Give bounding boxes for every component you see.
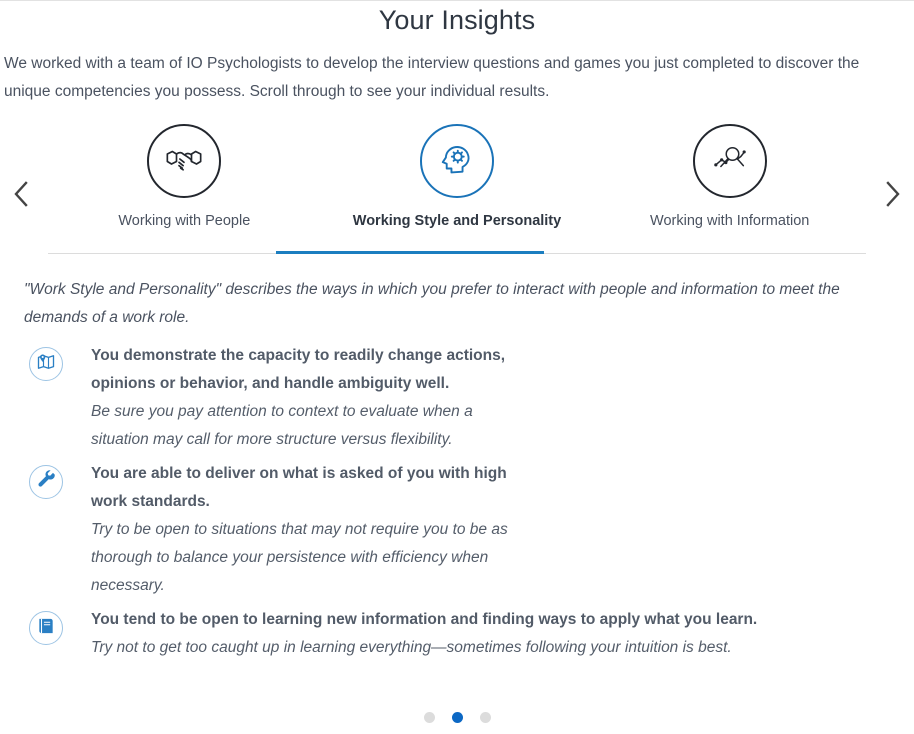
chevron-right-icon (885, 181, 901, 207)
list-item: You demonstrate the capacity to readily … (6, 338, 908, 454)
insight-tip: Try to be open to situations that may no… (91, 516, 511, 600)
tab-label: Working with People (118, 213, 250, 229)
pagination-dot-1[interactable] (424, 712, 435, 723)
insight-tip: Try not to get too caught up in learning… (91, 634, 757, 662)
pagination-dot-3[interactable] (480, 712, 491, 723)
carousel-next-button[interactable] (878, 174, 908, 214)
tab-working-with-people[interactable]: Working with People (48, 124, 321, 241)
insight-list: You demonstrate the capacity to readily … (6, 332, 908, 662)
tab-label: Working Style and Personality (353, 213, 561, 229)
tab-icon-circle (693, 124, 767, 198)
insight-icon-circle (29, 347, 63, 381)
chevron-left-icon (13, 181, 29, 207)
page-title: Your Insights (0, 0, 914, 36)
tab-label: Working with Information (650, 213, 809, 229)
list-item: You are able to deliver on what is asked… (6, 456, 908, 600)
wrench-icon (37, 470, 56, 494)
insights-panel: "Work Style and Personality" describes t… (0, 254, 914, 662)
insight-headline: You demonstrate the capacity to readily … (91, 342, 511, 398)
insight-icon-circle (29, 611, 63, 645)
pagination-dots (0, 712, 914, 723)
active-tab-underline (276, 251, 544, 254)
top-divider (0, 0, 914, 1)
insight-text: You are able to deliver on what is asked… (63, 456, 511, 600)
insight-text: You tend to be open to learning new info… (63, 602, 757, 662)
tab-working-with-information[interactable]: Working with Information (593, 124, 866, 241)
magnifier-chart-icon (710, 139, 750, 184)
insight-tip: Be sure you pay attention to context to … (91, 398, 511, 454)
tab-list: Working with People (48, 124, 866, 241)
pagination-dot-2[interactable] (452, 712, 463, 723)
insight-text: You demonstrate the capacity to readily … (63, 338, 511, 454)
intro-paragraph: We worked with a team of IO Psychologist… (0, 36, 890, 106)
insight-headline: You are able to deliver on what is asked… (91, 460, 511, 516)
tab-working-style-and-personality[interactable]: Working Style and Personality (321, 124, 594, 241)
list-item: You tend to be open to learning new info… (6, 602, 908, 662)
insights-carousel: Working with People (0, 124, 914, 254)
book-icon (36, 616, 56, 641)
tab-icon-circle (420, 124, 494, 198)
tab-icon-circle (147, 124, 221, 198)
head-gear-icon (438, 140, 476, 183)
insight-icon-circle (29, 465, 63, 499)
map-pin-icon (36, 352, 56, 377)
handshake-icon (164, 139, 204, 184)
carousel-prev-button[interactable] (6, 174, 36, 214)
insight-headline: You tend to be open to learning new info… (91, 606, 757, 634)
panel-description: "Work Style and Personality" describes t… (6, 266, 908, 332)
